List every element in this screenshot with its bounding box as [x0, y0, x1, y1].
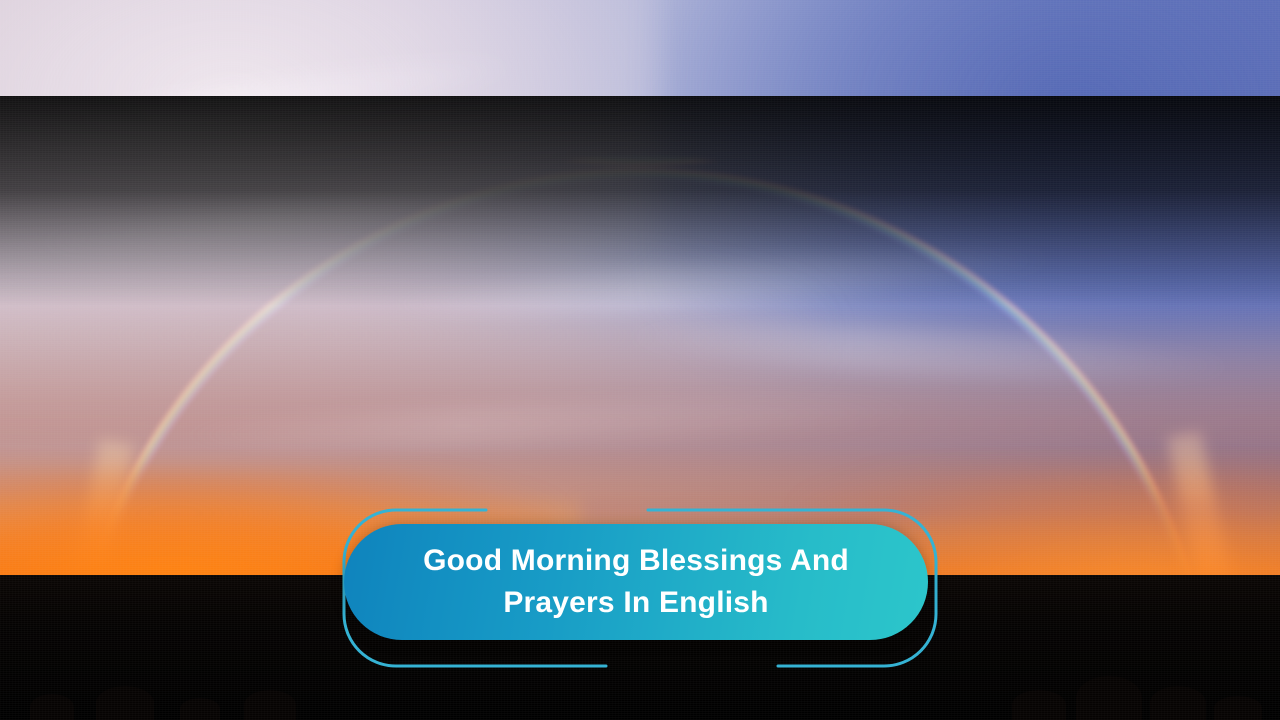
tree-silhouette [244, 690, 296, 720]
screenshot-canvas: Good Morning Blessings And Prayers In En… [0, 0, 1280, 720]
tree-silhouette [1150, 686, 1206, 720]
title-banner: Good Morning Blessings And Prayers In En… [344, 524, 928, 640]
tree-silhouette [1012, 690, 1066, 720]
rainbow-apex-fade [0, 96, 1280, 306]
banner-title-line-2: Prayers In English [503, 582, 768, 624]
tree-silhouette [96, 686, 154, 720]
banner-title-line-1: Good Morning Blessings And [423, 540, 849, 582]
tree-silhouette [180, 698, 220, 720]
tree-silhouette [30, 694, 74, 720]
tree-silhouette [1076, 676, 1142, 720]
tree-silhouette [1214, 696, 1262, 720]
